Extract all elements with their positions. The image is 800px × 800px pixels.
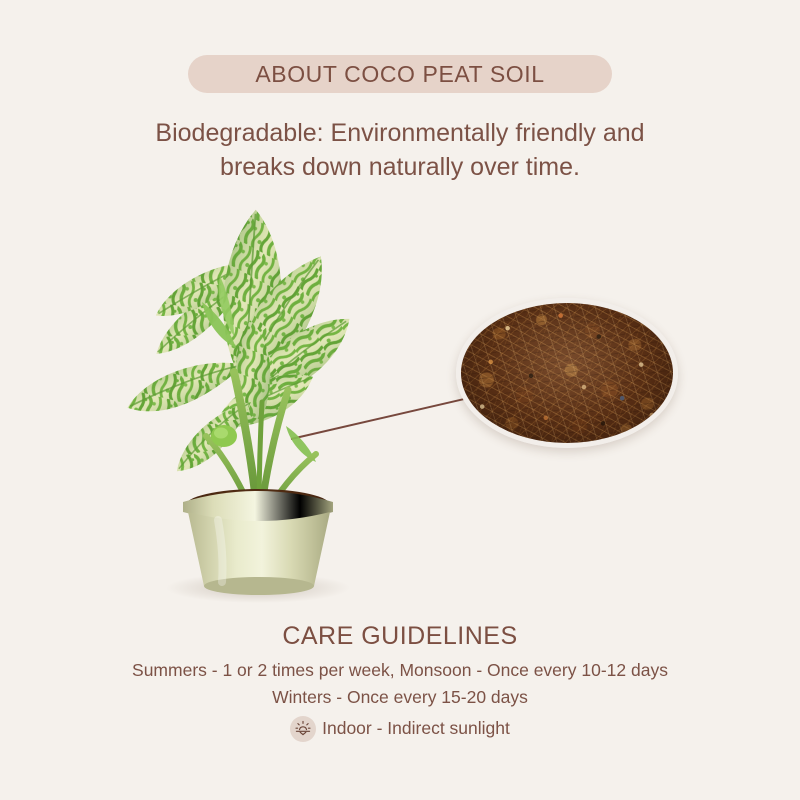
plant-leaves	[122, 208, 357, 477]
care-guidelines-title: CARE GUIDELINES	[0, 622, 800, 651]
section-title-badge: ABOUT COCO PEAT SOIL	[188, 55, 612, 93]
sun-horizon-icon	[290, 716, 316, 742]
aglaonema-potted-plant	[110, 190, 410, 610]
plant-bud	[211, 425, 237, 447]
care-sunlight-row: Indoor - Indirect sunlight	[0, 715, 800, 742]
illustration-area	[0, 180, 800, 620]
care-line-winters: Winters - Once every 15-20 days	[0, 684, 800, 711]
subtitle-line-1: Biodegradable: Environmentally friendly …	[60, 116, 740, 150]
infographic-canvas: ABOUT COCO PEAT SOIL Biodegradable: Envi…	[0, 0, 800, 800]
section-title-label: ABOUT COCO PEAT SOIL	[255, 61, 544, 88]
coco-peat-soil-closeup	[456, 298, 678, 448]
section-subtitle: Biodegradable: Environmentally friendly …	[60, 116, 740, 184]
soil-vignette	[461, 303, 673, 443]
care-sunlight-label: Indoor - Indirect sunlight	[322, 715, 510, 742]
plant-pot	[183, 489, 333, 595]
care-line-summers-monsoon: Summers - 1 or 2 times per week, Monsoon…	[0, 657, 800, 684]
care-guidelines-section: CARE GUIDELINES Summers - 1 or 2 times p…	[0, 622, 800, 742]
subtitle-line-2: breaks down naturally over time.	[60, 150, 740, 184]
